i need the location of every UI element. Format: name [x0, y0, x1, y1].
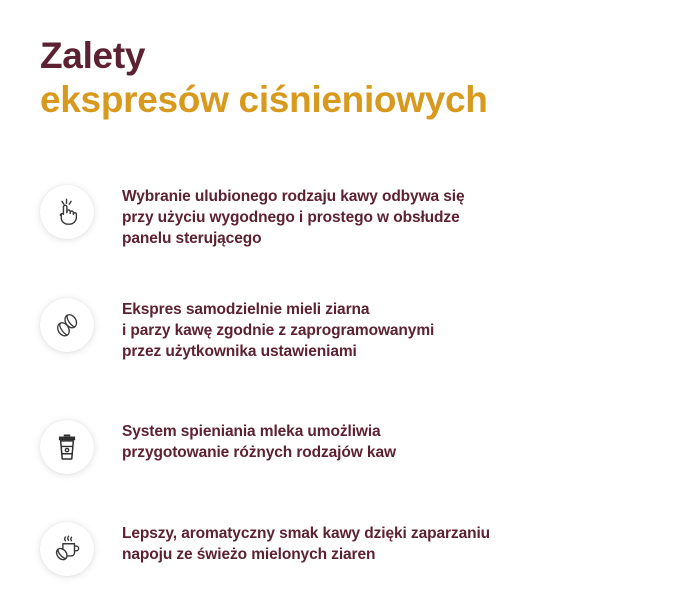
benefit-text: System spieniania mleka umożliwia przygo…: [122, 411, 396, 463]
infographic-root: Zalety ekspresów ciśnieniowych: [0, 0, 675, 609]
benefit-icon-badge: [40, 298, 94, 352]
benefit-text: Ekspres samodzielnie mieli ziarna i parz…: [122, 289, 434, 362]
title-line-secondary: ekspresów ciśnieniowych: [40, 81, 488, 118]
benefit-item: Lepszy, aromatyczny smak kawy dzięki zap…: [0, 513, 675, 613]
benefit-text-line: przygotowanie różnych rodzajów kaw: [122, 442, 396, 463]
benefit-item: Ekspres samodzielnie mieli ziarna i parz…: [0, 289, 675, 411]
benefit-item: Wybranie ulubionego rodzaju kawy odbywa …: [0, 176, 675, 289]
benefit-text-line: Wybranie ulubionego rodzaju kawy odbywa …: [122, 186, 465, 207]
steaming-mug-bean-icon: [52, 534, 82, 564]
takeaway-cup-icon: [53, 432, 81, 462]
benefit-text-line: panelu sterującego: [122, 228, 465, 249]
benefits-list: Wybranie ulubionego rodzaju kawy odbywa …: [0, 176, 675, 613]
tap-hand-icon: [52, 197, 82, 227]
page-title: Zalety ekspresów ciśnieniowych: [40, 37, 488, 118]
benefit-text: Wybranie ulubionego rodzaju kawy odbywa …: [122, 176, 465, 249]
title-line-primary: Zalety: [40, 37, 488, 74]
benefit-text-line: System spieniania mleka umożliwia: [122, 421, 396, 442]
benefit-icon-badge: [40, 185, 94, 239]
benefit-text-line: Lepszy, aromatyczny smak kawy dzięki zap…: [122, 523, 490, 544]
benefit-item: System spieniania mleka umożliwia przygo…: [0, 411, 675, 513]
coffee-beans-icon: [52, 310, 82, 340]
benefit-text: Lepszy, aromatyczny smak kawy dzięki zap…: [122, 513, 490, 565]
benefit-icon-badge: [40, 420, 94, 474]
benefit-text-line: i parzy kawę zgodnie z zaprogramowanymi: [122, 320, 434, 341]
benefit-text-line: przy użyciu wygodnego i prostego w obsłu…: [122, 207, 465, 228]
benefit-text-line: napoju ze świeżo mielonych ziaren: [122, 544, 490, 565]
benefit-icon-badge: [40, 522, 94, 576]
benefit-text-line: przez użytkownika ustawieniami: [122, 341, 434, 362]
benefit-text-line: Ekspres samodzielnie mieli ziarna: [122, 299, 434, 320]
